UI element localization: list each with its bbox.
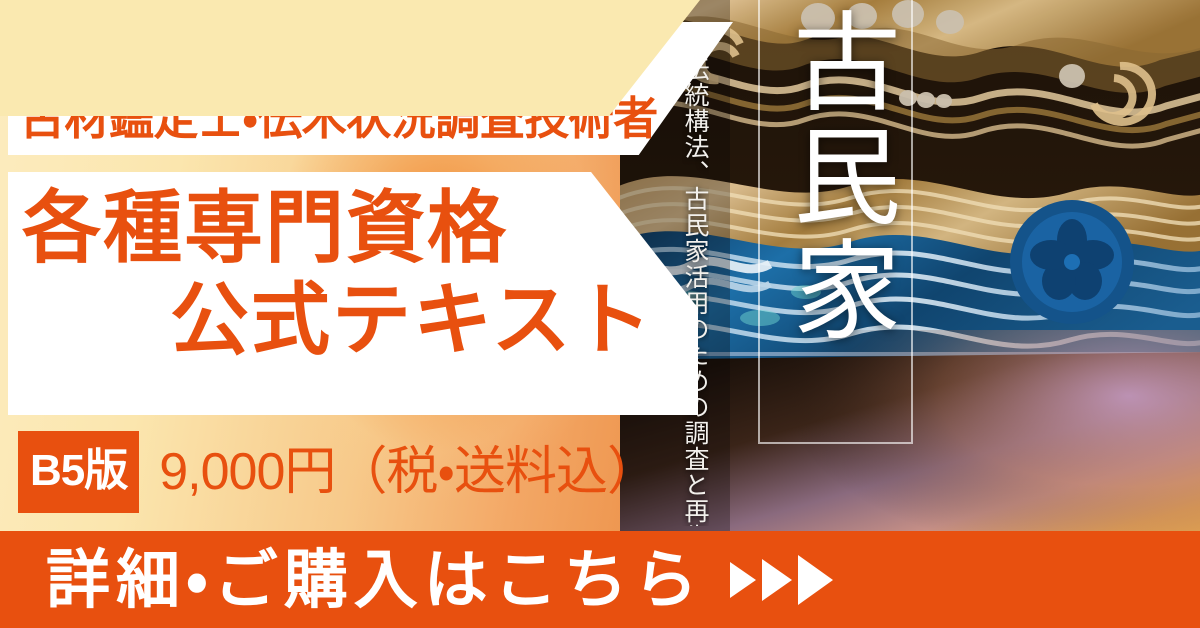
triangle-right-icon <box>762 559 792 601</box>
triangle-right-icon <box>798 555 833 605</box>
promo-banner: 古民家 伝統構法、古民家活用のための調査と再生の 古民家鑑定士・伝統再築士・ 古… <box>0 0 1200 628</box>
headline-line-2: 公式テキスト <box>0 274 700 366</box>
price-amount: 9,000円（税・送料込） <box>159 446 658 498</box>
price-panel <box>0 0 700 116</box>
cta-arrows <box>730 555 833 605</box>
price-row: B5版 9,000円（税・送料込） <box>18 430 658 514</box>
triangle-right-icon <box>730 562 756 598</box>
cta-label: 詳細・ご購入はこちら <box>46 548 704 612</box>
format-badge: B5版 <box>18 431 139 513</box>
headline-text: 各種専門資格 公式テキスト <box>0 182 700 365</box>
cta-bar[interactable]: 詳細・ご購入はこちら <box>0 531 1200 628</box>
headline-line-1: 各種専門資格 <box>0 182 700 274</box>
book-title: 古民家 <box>770 6 902 348</box>
